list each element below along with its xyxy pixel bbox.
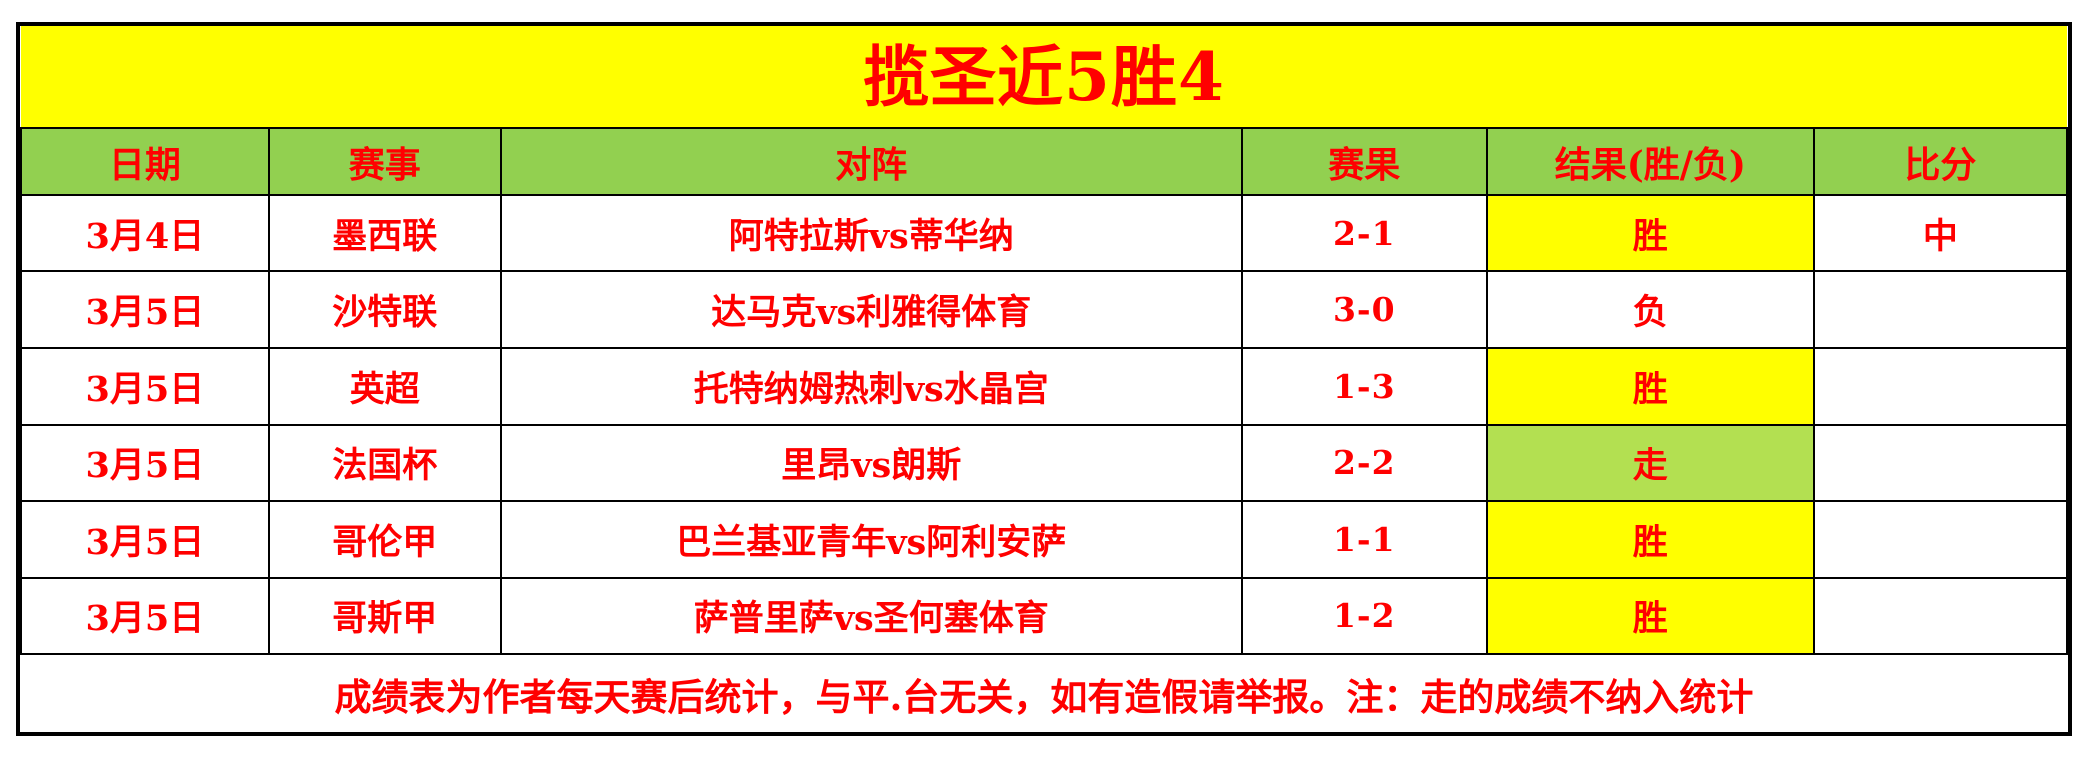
table-header-row: 日期 赛事 对阵 赛果 结果(胜/负) 比分 [21,128,2067,194]
cell-league: 英超 [269,348,501,425]
cell-result: 1-3 [1242,348,1487,425]
cell-score [1814,501,2067,578]
cell-score: 中 [1814,195,2067,272]
cell-league: 沙特联 [269,271,501,348]
cell-result: 1-2 [1242,578,1487,655]
column-header-result: 赛果 [1242,128,1487,194]
cell-date: 3月5日 [21,501,269,578]
cell-result: 1-1 [1242,501,1487,578]
results-table-sheet: 揽圣近5胜4 日期 赛事 对阵 赛果 结果(胜/负) 比分 3月4日 墨西联 阿… [16,22,2072,736]
cell-score [1814,578,2067,655]
cell-match: 巴兰基亚青年vs阿利安萨 [501,501,1242,578]
cell-match: 里昂vs朗斯 [501,425,1242,502]
cell-score [1814,425,2067,502]
cell-date: 3月5日 [21,271,269,348]
cell-match: 阿特拉斯vs蒂华纳 [501,195,1242,272]
cell-outcome: 胜 [1487,348,1814,425]
column-header-date: 日期 [21,128,269,194]
column-header-outcome: 结果(胜/负) [1487,128,1814,194]
cell-result: 2-2 [1242,425,1487,502]
cell-result: 2-1 [1242,195,1487,272]
title-banner: 揽圣近5胜4 [21,26,2067,128]
table-row: 3月5日 哥伦甲 巴兰基亚青年vs阿利安萨 1-1 胜 [21,501,2067,578]
cell-league: 哥伦甲 [269,501,501,578]
cell-outcome: 胜 [1487,501,1814,578]
cell-outcome: 走 [1487,425,1814,502]
cell-match: 萨普里萨vs圣何塞体育 [501,578,1242,655]
footer-note-cell: 成绩表为作者每天赛后统计，与平.台无关，如有造假请举报。注：走的成绩不纳入统计 [21,654,2067,732]
cell-league: 法国杯 [269,425,501,502]
cell-score [1814,348,2067,425]
footer-note: 成绩表为作者每天赛后统计，与平.台无关，如有造假请举报。注：走的成绩不纳入统计 [335,675,1754,719]
title-row: 揽圣近5胜4 [21,26,2067,128]
table-row: 3月5日 哥斯甲 萨普里萨vs圣何塞体育 1-2 胜 [21,578,2067,655]
cell-outcome: 负 [1487,271,1814,348]
cell-match: 托特纳姆热刺vs水晶宫 [501,348,1242,425]
cell-match: 达马克vs利雅得体育 [501,271,1242,348]
match-results-table: 揽圣近5胜4 日期 赛事 对阵 赛果 结果(胜/负) 比分 3月4日 墨西联 阿… [20,26,2068,732]
column-header-league: 赛事 [269,128,501,194]
cell-result: 3-0 [1242,271,1487,348]
column-header-match: 对阵 [501,128,1242,194]
cell-score [1814,271,2067,348]
table-row: 3月4日 墨西联 阿特拉斯vs蒂华纳 2-1 胜 中 [21,195,2067,272]
table-row: 3月5日 英超 托特纳姆热刺vs水晶宫 1-3 胜 [21,348,2067,425]
note-row: 成绩表为作者每天赛后统计，与平.台无关，如有造假请举报。注：走的成绩不纳入统计 [21,654,2067,732]
cell-date: 3月4日 [21,195,269,272]
cell-outcome: 胜 [1487,578,1814,655]
cell-date: 3月5日 [21,425,269,502]
cell-league: 墨西联 [269,195,501,272]
cell-date: 3月5日 [21,578,269,655]
page-title: 揽圣近5胜4 [863,38,1225,116]
cell-outcome: 胜 [1487,195,1814,272]
cell-league: 哥斯甲 [269,578,501,655]
table-row: 3月5日 法国杯 里昂vs朗斯 2-2 走 [21,425,2067,502]
cell-date: 3月5日 [21,348,269,425]
table-row: 3月5日 沙特联 达马克vs利雅得体育 3-0 负 [21,271,2067,348]
column-header-score: 比分 [1814,128,2067,194]
